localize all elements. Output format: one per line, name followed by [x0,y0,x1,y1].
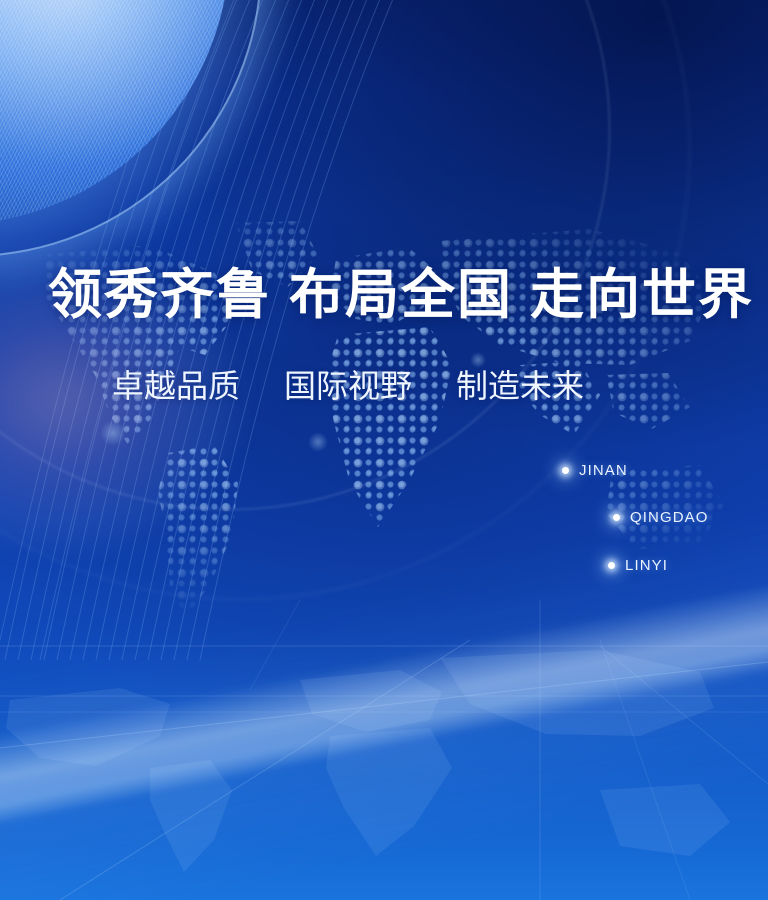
perspective-grid-icon [0,600,768,900]
orbit-arc-icon [0,0,610,510]
earth-globe-icon [0,0,230,225]
location-dot-icon [562,467,569,474]
background-vignette [0,0,768,900]
floor-world-map-icon [0,640,768,900]
bokeh-dot [470,352,486,368]
city-marker-qingdao: QINGDAO [613,509,709,526]
page-title: 领秀齐鲁布局全国走向世界 [48,268,754,322]
subtitle-part-1: 卓越品质 [112,368,240,404]
light-beam-core-icon [0,572,768,832]
location-dot-icon [608,562,615,569]
city-label: LINYI [625,557,668,574]
subtitle-part-3: 制造未来 [456,368,584,404]
subtitle-part-2: 国际视野 [284,368,412,404]
headline-part-3: 走向世界 [530,265,754,325]
bokeh-dot [100,420,126,446]
bokeh-dot [308,432,328,452]
headline-part-2: 布局全国 [289,265,513,325]
hero-banner: 领秀齐鲁布局全国走向世界 卓越品质国际视野制造未来 JINAN QINGDAO … [0,0,768,900]
atmosphere-glow-icon [0,0,260,255]
city-label: JINAN [579,462,628,479]
city-marker-jinan: JINAN [562,462,628,479]
fiber-strand-bundle-icon [0,0,420,660]
page-subtitle: 卓越品质国际视野制造未来 [112,370,584,402]
city-label: QINGDAO [630,509,709,526]
location-dot-icon [613,514,620,521]
city-marker-linyi: LINYI [608,557,668,574]
headline-part-1: 领秀齐鲁 [48,265,272,325]
